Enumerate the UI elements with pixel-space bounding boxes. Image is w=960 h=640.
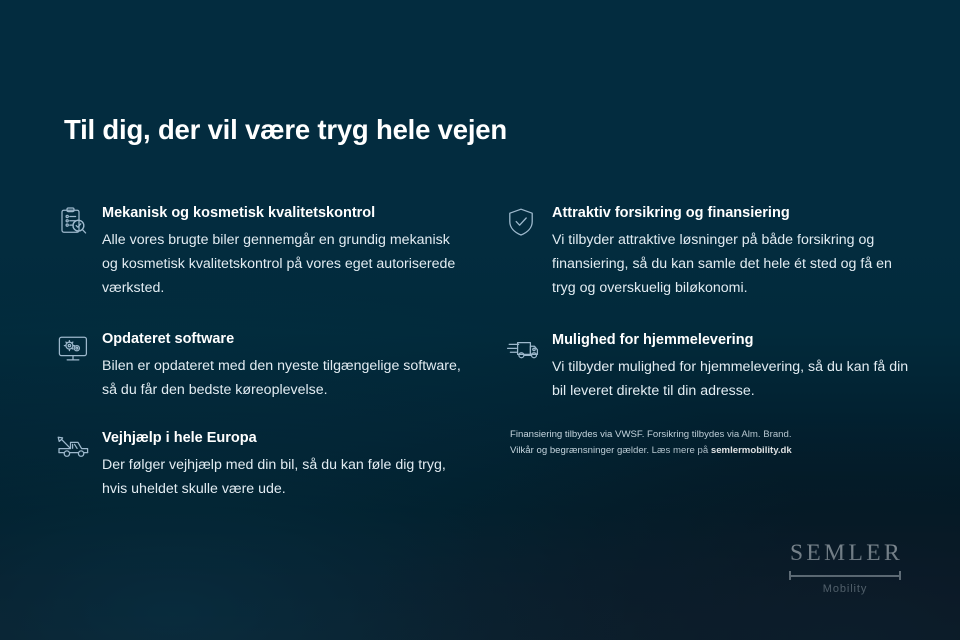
feature-software: Opdateret software Bilen er opdateret me… [56, 329, 466, 402]
feature-heading: Mekanisk og kosmetisk kvalitetskontrol [102, 204, 466, 222]
disclaimer-line-2: Vilkår og begrænsninger gælder. Læs mere… [510, 443, 916, 459]
semler-mobility-logo: SEMLER Mobility [786, 541, 904, 595]
semlermobility-link[interactable]: semlermobility.dk [711, 445, 792, 456]
delivery-truck-icon [506, 330, 552, 363]
feature-insurance-financing: Attraktiv forsikring og finansiering Vi … [506, 203, 916, 300]
shield-check-icon [506, 203, 552, 238]
feature-text: Vi tilbyder mulighed for hjemmelevering,… [552, 355, 916, 403]
feature-home-delivery: Mulighed for hjemmelevering Vi tilbyder … [506, 330, 916, 403]
feature-body: Attraktiv forsikring og finansiering Vi … [552, 203, 916, 300]
disclaimer: Finansiering tilbydes via VWSF. Forsikri… [506, 427, 916, 458]
tow-truck-icon [56, 428, 102, 463]
feature-heading: Opdateret software [102, 330, 466, 348]
spacer [56, 402, 466, 428]
feature-text: Der følger vejhjælp med din bil, så du k… [102, 453, 466, 501]
logo-wordmark: SEMLER [786, 541, 904, 566]
feature-text: Alle vores brugte biler gennemgår en gru… [102, 228, 466, 300]
page-title: Til dig, der vil være tryg hele vejen [64, 114, 507, 146]
logo-subtitle: Mobility [786, 583, 904, 595]
feature-body: Mekanisk og kosmetisk kvalitetskontrol A… [102, 203, 466, 300]
spacer [506, 300, 916, 330]
feature-roadside-assistance: Vejhjælp i hele Europa Der følger vejhjæ… [56, 428, 466, 501]
feature-body: Vejhjælp i hele Europa Der følger vejhjæ… [102, 428, 466, 501]
feature-quality-control: Mekanisk og kosmetisk kvalitetskontrol A… [56, 203, 466, 300]
feature-body: Opdateret software Bilen er opdateret me… [102, 329, 466, 402]
feature-heading: Vejhjælp i hele Europa [102, 429, 466, 447]
slide-root: Til dig, der vil være tryg hele vejen [0, 0, 960, 640]
feature-columns: Mekanisk og kosmetisk kvalitetskontrol A… [56, 203, 916, 501]
feature-heading: Attraktiv forsikring og finansiering [552, 204, 916, 222]
right-column: Attraktiv forsikring og finansiering Vi … [506, 203, 916, 501]
logo-divider [789, 571, 901, 580]
logo-divider-line [789, 575, 901, 577]
feature-text: Bilen er opdateret med den nyeste tilgæn… [102, 354, 466, 402]
logo-divider-cap-right [899, 571, 901, 580]
disclaimer-line-1: Finansiering tilbydes via VWSF. Forsikri… [510, 427, 916, 443]
monitor-gears-icon [56, 329, 102, 366]
left-column: Mekanisk og kosmetisk kvalitetskontrol A… [56, 203, 466, 501]
feature-body: Mulighed for hjemmelevering Vi tilbyder … [552, 330, 916, 403]
spacer [506, 403, 916, 427]
feature-heading: Mulighed for hjemmelevering [552, 331, 916, 349]
spacer [56, 300, 466, 329]
feature-text: Vi tilbyder attraktive løsninger på både… [552, 228, 916, 300]
clipboard-check-magnifier-icon [56, 203, 102, 240]
disclaimer-line-2-prefix: Vilkår og begrænsninger gælder. Læs mere… [510, 445, 711, 456]
